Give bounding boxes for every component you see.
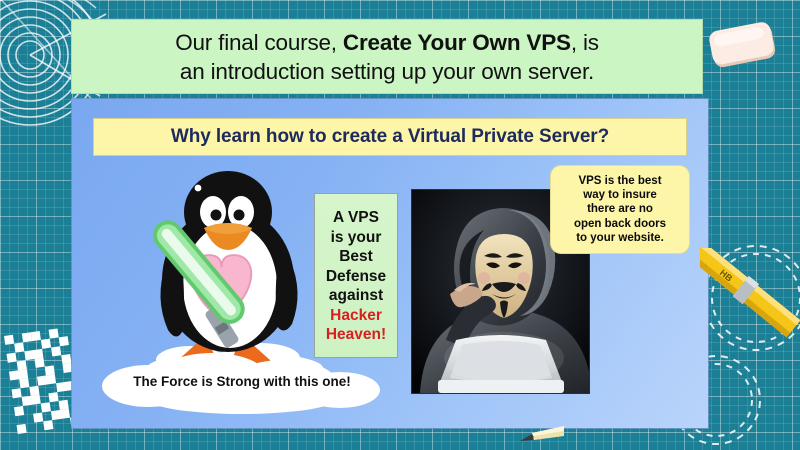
callout-line-4: open back doors xyxy=(574,217,666,231)
callout-line-1: VPS is the best xyxy=(578,174,661,188)
pencil-tip-decoration xyxy=(520,424,564,442)
defense-line-2: is your xyxy=(331,228,382,248)
slide-canvas: Our final course, Create Your Own VPS, i… xyxy=(0,0,800,450)
cloud-caption-shape: The Force is Strong with this one! xyxy=(96,352,388,414)
callout-line-5: to your website. xyxy=(576,231,664,245)
title-suffix: , is xyxy=(571,30,599,55)
tux-head-highlight-icon xyxy=(195,185,202,192)
defense-line-red-2: Heaven! xyxy=(326,325,386,345)
defense-line-red-1: Hacker xyxy=(330,306,382,326)
tux-pupil-right-icon xyxy=(234,210,245,221)
tux-pupil-left-icon xyxy=(211,210,222,221)
defense-line-3: Best xyxy=(339,247,373,267)
vps-defense-text-block: A VPS is your Best Defense against Hacke… xyxy=(314,193,398,358)
title-line-2: an introduction setting up your own serv… xyxy=(180,57,594,86)
callout-line-2: way to insure xyxy=(583,188,657,202)
question-banner: Why learn how to create a Virtual Privat… xyxy=(93,118,687,156)
title-prefix: Our final course, xyxy=(175,30,343,55)
tux-flipper-right-icon xyxy=(276,260,298,331)
pencil-decoration-hb: HB xyxy=(700,248,800,353)
vps-callout-bubble: VPS is the best way to insure there are … xyxy=(550,165,690,254)
title-line-1: Our final course, Create Your Own VPS, i… xyxy=(175,28,599,57)
defense-line-5: against xyxy=(329,286,383,306)
cloud-caption-text: The Force is Strong with this one! xyxy=(96,374,388,389)
callout-line-3: there are no xyxy=(587,202,653,216)
tux-penguin-illustration: VPS xyxy=(140,168,330,380)
title-emphasis: Create Your Own VPS xyxy=(343,30,571,55)
question-banner-text: Why learn how to create a Virtual Privat… xyxy=(171,126,609,148)
qr-code-decoration xyxy=(4,327,80,434)
defense-line-4: Defense xyxy=(326,267,386,287)
defense-line-1: A VPS xyxy=(333,208,379,228)
tux-flipper-left-icon xyxy=(160,264,184,337)
slide-title-box: Our final course, Create Your Own VPS, i… xyxy=(71,19,703,94)
eraser-decoration xyxy=(707,22,779,70)
